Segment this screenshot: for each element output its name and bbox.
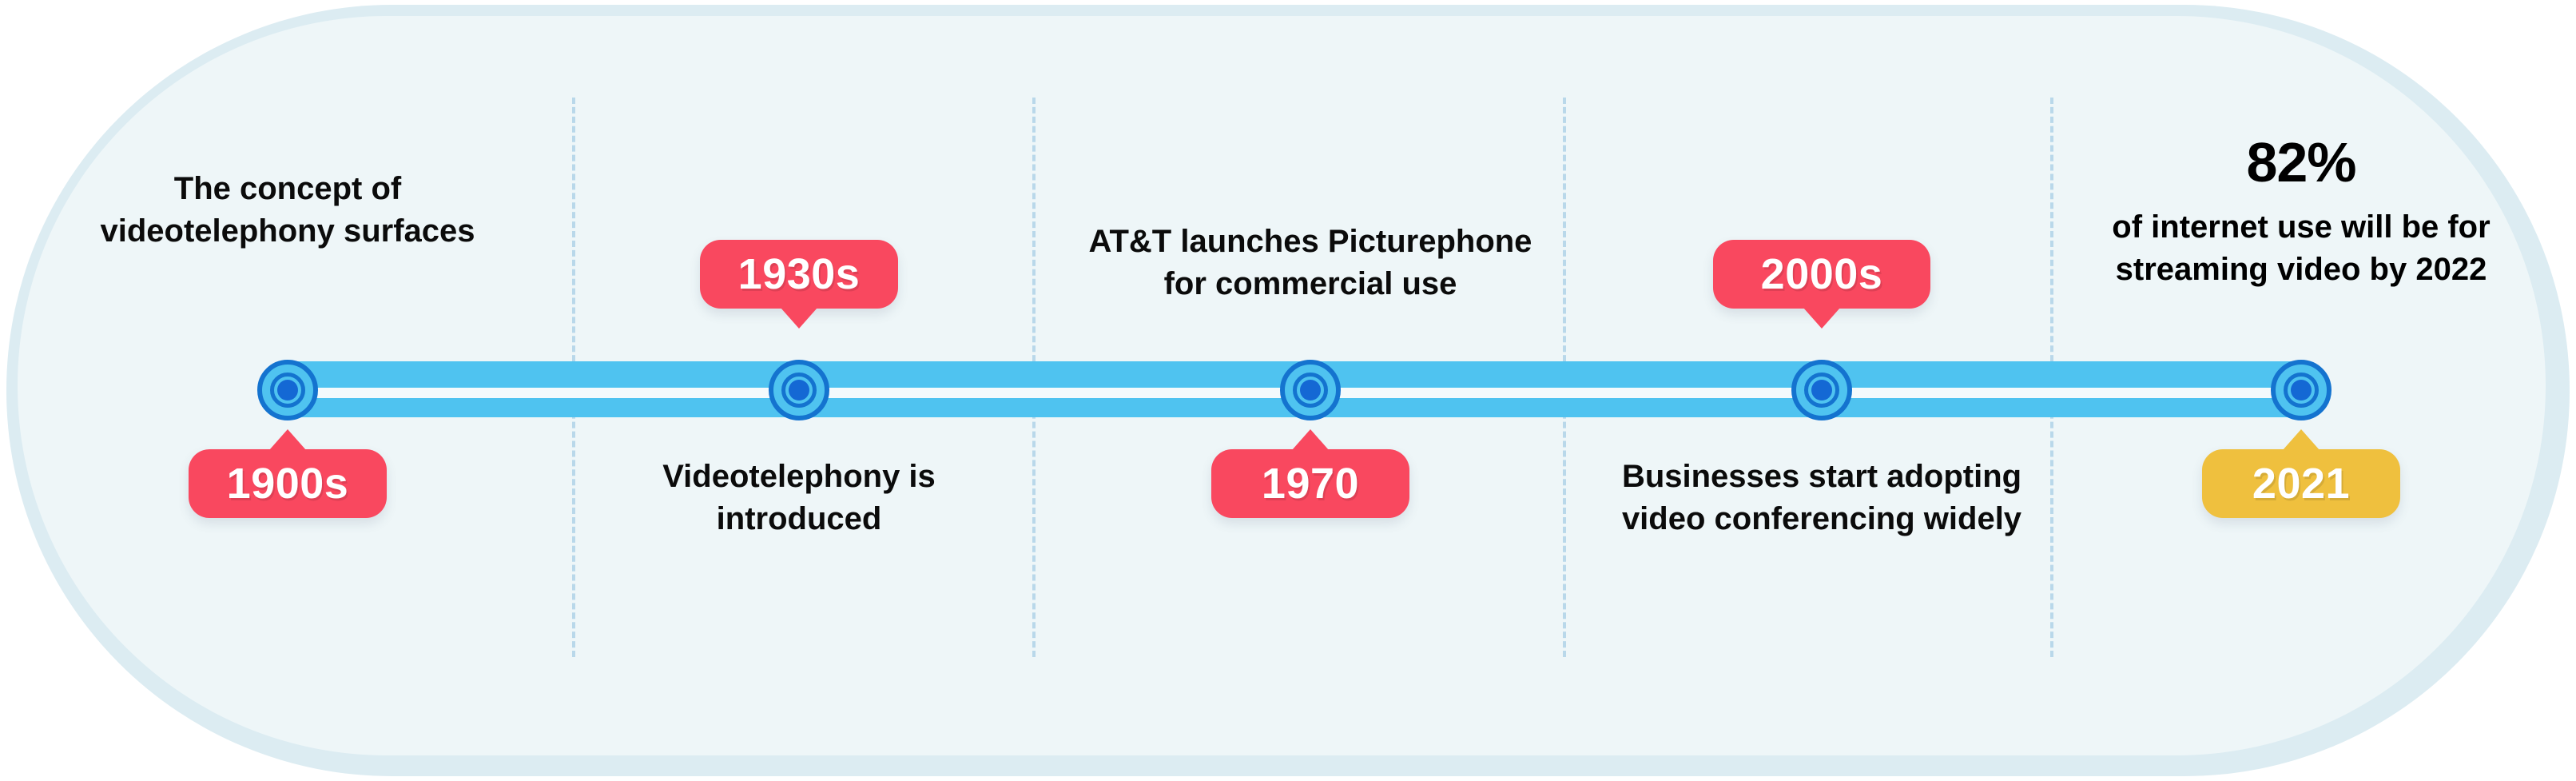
timeline-node-2[interactable] <box>769 360 829 420</box>
node-core <box>1811 380 1832 400</box>
caption-line: videotelephony surfaces <box>48 210 527 253</box>
stat-block: 82% of internet use will be for streamin… <box>2061 134 2541 291</box>
node-core <box>1300 380 1321 400</box>
milestone-badge-3[interactable]: 1970 <box>1211 449 1409 518</box>
timeline-infographic: The concept of videotelephony surfaces 1… <box>0 0 2576 781</box>
badge-tail-icon <box>1292 429 1329 450</box>
milestone-badge-5[interactable]: 2021 <box>2202 449 2400 518</box>
node-core <box>789 380 809 400</box>
milestone-caption-3: AT&T launches Picturephone for commercia… <box>1047 221 1574 305</box>
badge-tail-icon <box>2283 429 2320 450</box>
stat-description-line: streaming video by 2022 <box>2061 249 2541 291</box>
timeline-node-1[interactable] <box>257 360 318 420</box>
caption-line: Businesses start adopting <box>1582 456 2061 498</box>
badge-tail-icon <box>781 308 817 329</box>
caption-line: introduced <box>559 498 1039 540</box>
badge-label: 1930s <box>738 250 861 298</box>
milestone-caption-4: Businesses start adopting video conferen… <box>1582 456 2061 540</box>
badge-label: 2021 <box>2252 460 2350 508</box>
badge-tail-icon <box>269 429 306 450</box>
milestone-badge-4[interactable]: 2000s <box>1713 240 1930 309</box>
stat-description-line: of internet use will be for <box>2061 206 2541 249</box>
milestone-badge-2[interactable]: 1930s <box>700 240 898 309</box>
caption-line: video conferencing widely <box>1582 498 2061 540</box>
badge-label: 2000s <box>1761 250 1883 298</box>
milestone-caption-2: Videotelephony is introduced <box>559 456 1039 540</box>
caption-line: for commercial use <box>1047 263 1574 305</box>
caption-line: AT&T launches Picturephone <box>1047 221 1574 263</box>
milestone-caption-1: The concept of videotelephony surfaces <box>48 168 527 253</box>
timeline-node-3[interactable] <box>1280 360 1341 420</box>
milestone-badge-1[interactable]: 1900s <box>189 449 387 518</box>
stat-value: 82% <box>2061 134 2541 190</box>
node-core <box>277 380 298 400</box>
caption-line: The concept of <box>48 168 527 210</box>
badge-label: 1970 <box>1262 460 1359 508</box>
badge-tail-icon <box>1803 308 1840 329</box>
badge-label: 1900s <box>227 460 349 508</box>
caption-line: Videotelephony is <box>559 456 1039 498</box>
node-core <box>2291 380 2312 400</box>
timeline-node-4[interactable] <box>1791 360 1852 420</box>
timeline-node-5[interactable] <box>2271 360 2332 420</box>
stat-description: of internet use will be for streaming vi… <box>2061 206 2541 291</box>
